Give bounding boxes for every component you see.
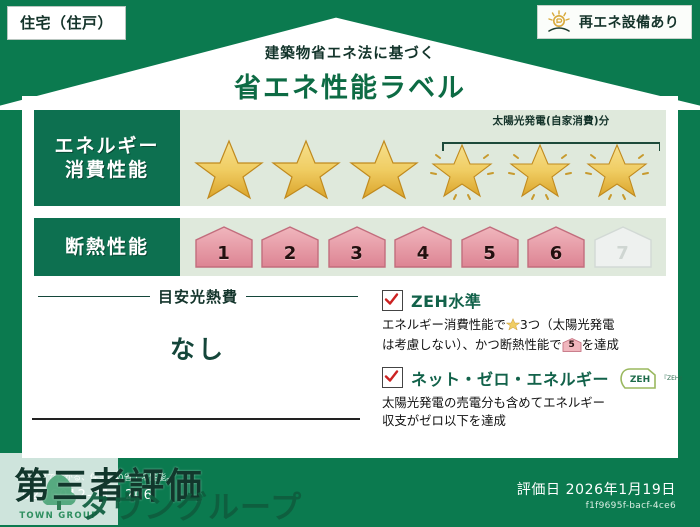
insulation-level-3-value: 3	[350, 243, 363, 269]
criterion-zeh-standard-header: ZEH水準	[382, 288, 670, 312]
zeh-desc-part3: は考慮しない）、かつ断熱性能で	[382, 337, 562, 352]
insulation-level-5-value: 5	[483, 243, 496, 269]
star-3	[349, 135, 419, 201]
energy-star-rating	[180, 135, 666, 201]
zeh-logo-tm: 『ZEH』	[661, 373, 685, 382]
insulation-level-7: 7	[592, 225, 654, 269]
title-block: 建築物省エネ法に基づく 省エネ性能ラベル	[0, 42, 700, 105]
insulation-rating-field: 1 2 3 4 5	[180, 218, 666, 276]
star-5	[505, 135, 575, 201]
zeh-desc-part4: を達成	[582, 337, 619, 352]
footer-document-info: ひと目でわかる、住まいの省エネ性能。 0286012-01 206	[22, 471, 175, 503]
evaluation-date-value: 2026年1月19日	[566, 482, 676, 498]
energy-performance-row: エネルギー 消費性能 太陽光発電(自家消費)分	[34, 110, 666, 206]
energy-label-line2: 消費性能	[65, 158, 149, 182]
insulation-level-2: 2	[259, 225, 321, 269]
evaluation-date: 評価日 2026年1月19日	[517, 479, 676, 499]
zeh-logo-icon: ZEH 『ZEH』	[619, 366, 685, 390]
energy-label-root: 住宅（住戸） 再エネ設備あり 建築物省エネ法に基づく 省エネ性能ラベル	[0, 0, 700, 525]
insulation-level-6-value: 6	[550, 243, 563, 269]
star-2	[271, 135, 341, 201]
zeh-desc-part2: 3つ（太陽光発電	[520, 317, 615, 332]
title-subtitle: 建築物省エネ法に基づく	[0, 42, 700, 63]
insulation-level-scale: 1 2 3 4 5	[180, 218, 666, 276]
evaluation-uid: f1f9695f-bacf-4ce6	[517, 501, 676, 511]
energy-label-line1: エネルギー	[54, 134, 159, 158]
rule-left	[38, 296, 150, 298]
zeh-standard-checkbox[interactable]	[382, 290, 403, 311]
utility-cost-block: 目安光熱費 なし	[38, 286, 358, 366]
criteria-block: ZEH水準 エネルギー消費性能で3つ（太陽光発電は考慮しない）、かつ断熱性能で5…	[382, 288, 670, 442]
zeh-standard-description: エネルギー消費性能で3つ（太陽光発電は考慮しない）、かつ断熱性能で5を達成	[382, 316, 670, 354]
insulation-level-2-value: 2	[284, 243, 297, 269]
utility-cost-divider	[32, 418, 360, 420]
utility-cost-title: 目安光熱費	[158, 286, 238, 307]
renewable-energy-badge: 再エネ設備あり	[537, 5, 692, 39]
net-zero-title: ネット・ゼロ・エネルギー	[411, 366, 609, 390]
footer-doc-number: 0286012-01 206	[22, 488, 153, 503]
star-1	[194, 135, 264, 201]
net-zero-desc-line2: 収支がゼロ以下を達成	[382, 413, 506, 428]
footer-evaluation-info: 評価日 2026年1月19日 f1f9695f-bacf-4ce6	[517, 479, 676, 511]
footer-bar: ひと目でわかる、住まいの省エネ性能。 0286012-01 206 評価日 20…	[0, 463, 700, 525]
insulation-level-4: 4	[392, 225, 454, 269]
evaluation-date-label: 評価日	[517, 482, 561, 498]
insulation-label-text: 断熱性能	[65, 236, 149, 259]
net-zero-description: 太陽光発電の売電分も含めてエネルギー収支がゼロ以下を達成	[382, 394, 670, 430]
pv-bracket-caption: 太陽光発電(自家消費)分	[438, 113, 664, 128]
house-level-icon-value: 5	[562, 337, 582, 353]
insulation-performance-label: 断熱性能	[34, 218, 180, 276]
sun-icon	[546, 10, 572, 34]
utility-cost-value: なし	[38, 330, 358, 366]
star-icon	[506, 317, 520, 336]
page-title: 省エネ性能ラベル	[0, 66, 700, 105]
star-6	[582, 135, 652, 201]
insulation-level-6: 6	[525, 225, 587, 269]
criterion-net-zero-energy: ネット・ゼロ・エネルギー ZEH 『ZEH』 太陽光発電の売電分も含めてエネルギ…	[382, 366, 670, 430]
renewable-energy-label: 再エネ設備あり	[579, 12, 679, 32]
star-4	[427, 135, 497, 201]
insulation-level-1-value: 1	[217, 243, 230, 269]
net-zero-desc-line1: 太陽光発電の売電分も含めてエネルギー	[382, 395, 605, 410]
house-level-icon: 5	[562, 337, 582, 353]
insulation-level-3: 3	[326, 225, 388, 269]
building-type-label: 住宅（住戸）	[20, 14, 113, 32]
zeh-standard-title: ZEH水準	[411, 288, 481, 312]
rule-right	[246, 296, 358, 298]
utility-cost-header: 目安光熱費	[38, 286, 358, 307]
net-zero-checkbox[interactable]	[382, 367, 403, 388]
footer-tagline: ひと目でわかる、住まいの省エネ性能。	[22, 471, 175, 483]
building-type-tag: 住宅（住戸）	[7, 6, 126, 40]
insulation-level-4-value: 4	[417, 243, 430, 269]
criterion-net-zero-header: ネット・ゼロ・エネルギー ZEH 『ZEH』	[382, 366, 670, 390]
insulation-level-5: 5	[459, 225, 521, 269]
svg-text:ZEH: ZEH	[630, 375, 650, 385]
insulation-level-1: 1	[193, 225, 255, 269]
energy-performance-label: エネルギー 消費性能	[34, 110, 180, 206]
criterion-zeh-standard: ZEH水準 エネルギー消費性能で3つ（太陽光発電は考慮しない）、かつ断熱性能で5…	[382, 288, 670, 354]
insulation-level-7-value: 7	[616, 243, 629, 269]
energy-rating-field: 太陽光発電(自家消費)分	[180, 110, 666, 206]
zeh-desc-part1: エネルギー消費性能で	[382, 317, 506, 332]
insulation-performance-row: 断熱性能 1 2 3	[34, 218, 666, 276]
